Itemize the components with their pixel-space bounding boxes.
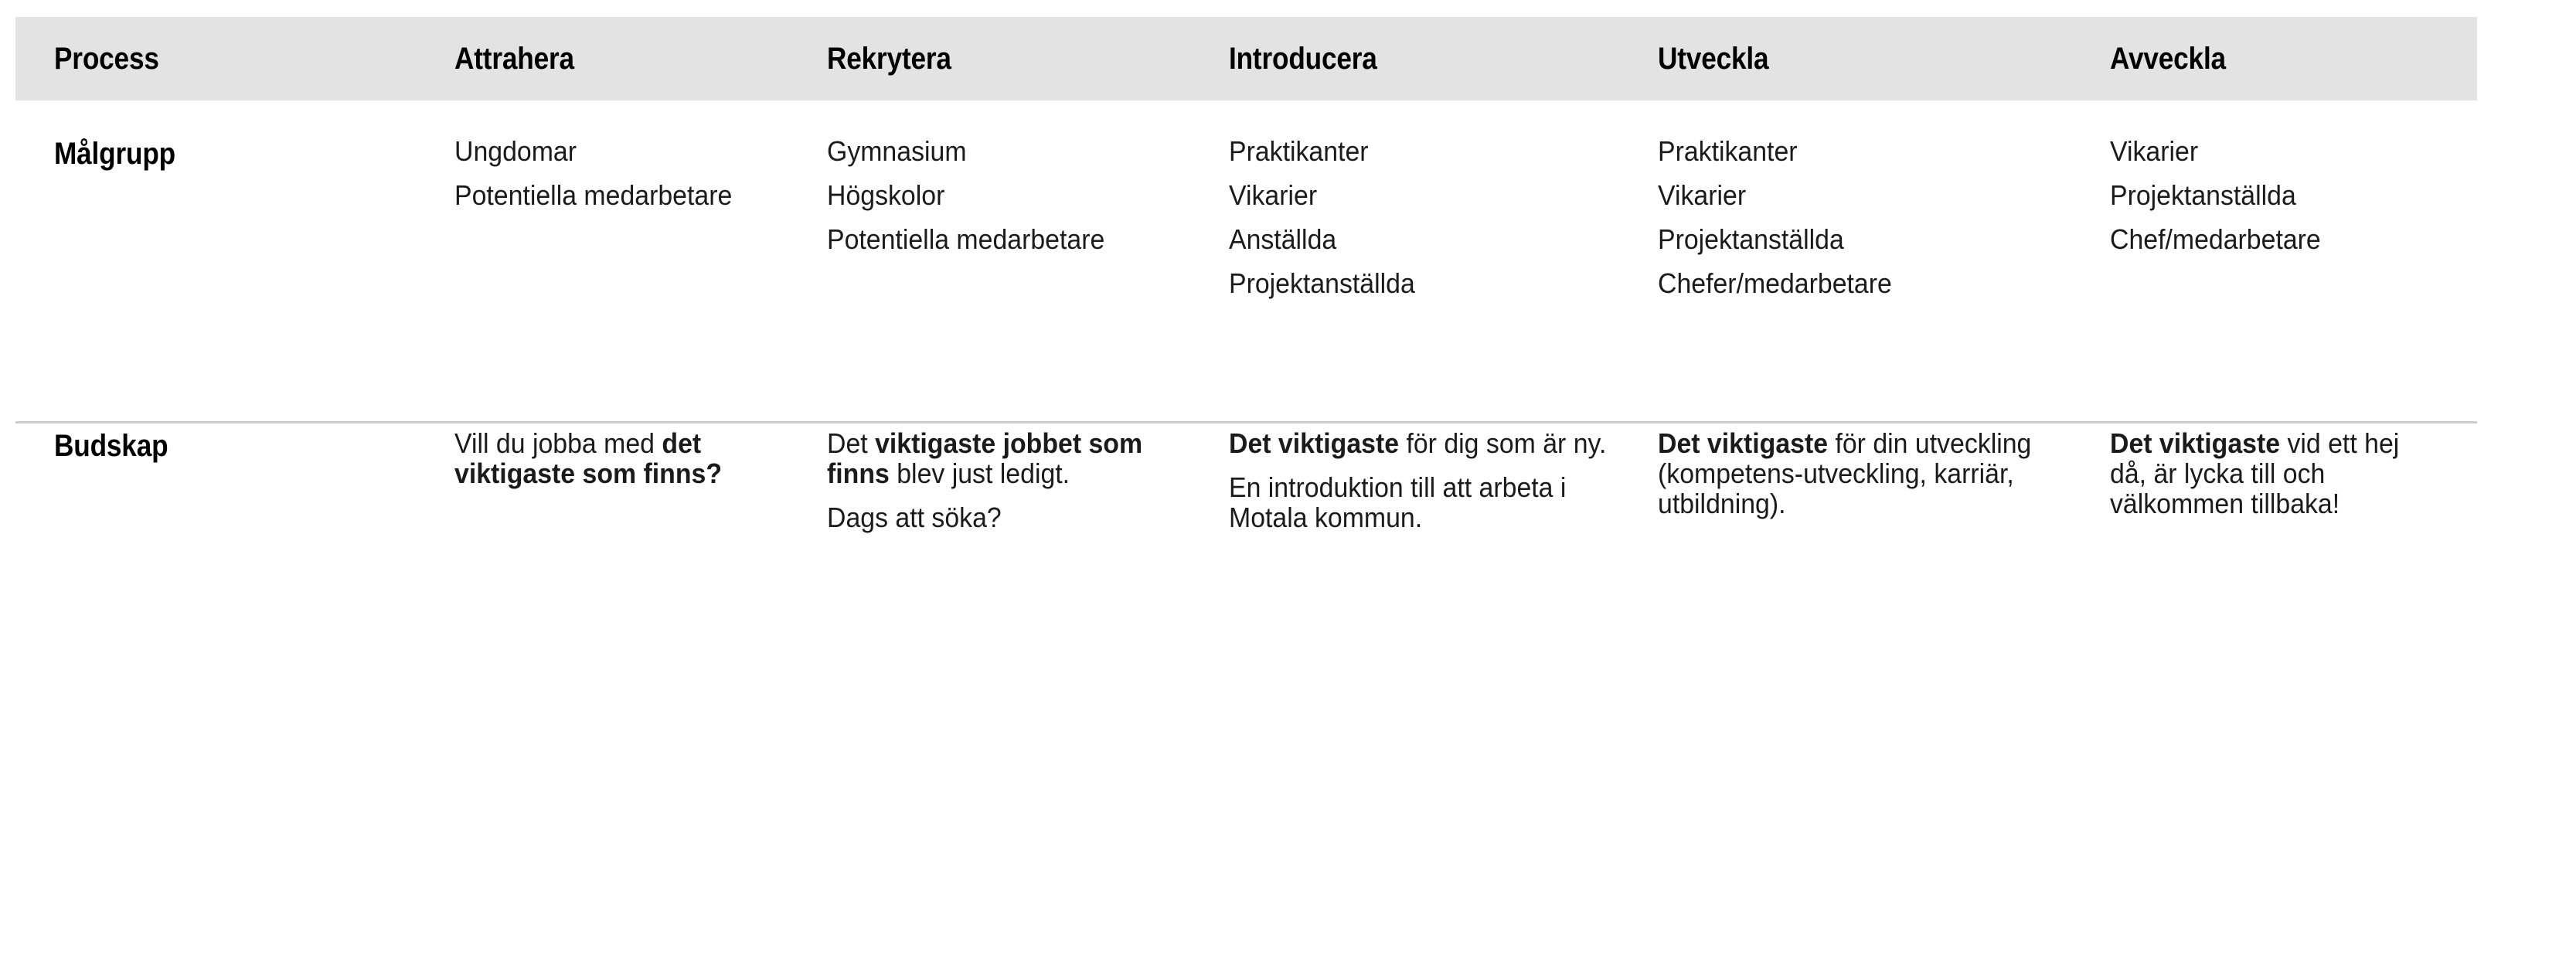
cell-paragraph: Chef/medarbetare: [2110, 224, 2438, 254]
plain-text: Chefer/medarbetare: [1658, 267, 1892, 299]
plain-text: Gymnasium: [827, 135, 967, 167]
row-label: Budskap: [54, 428, 390, 464]
table-cell: VikarierProjektanställdaChef/medarbetare: [2110, 136, 2477, 254]
process-table-sheet: Process Attrahera Rekrytera Introducera …: [0, 0, 2576, 966]
cell-paragraph: Det viktigaste jobbet som finns blev jus…: [827, 428, 1187, 488]
column-header-label: Rekrytera: [827, 42, 1164, 76]
plain-text: Vill du jobba med: [454, 427, 662, 459]
table-cell: Det viktigaste jobbet som finns blev jus…: [827, 428, 1229, 532]
plain-text: En introduktion till att arbeta i Motala…: [1229, 471, 1566, 533]
cell-content: Det viktigaste vid ett hej då, är lycka …: [2110, 428, 2438, 519]
column-header-label: Avveckla: [2110, 42, 2417, 76]
cell-paragraph: Vikarier: [1229, 180, 1615, 210]
plain-text: Projektanställda: [2110, 179, 2296, 211]
cell-paragraph: Det viktigaste för din utveckling (kompe…: [1658, 428, 2065, 519]
column-header-cell-avveckla: Avveckla: [2110, 42, 2477, 76]
plain-text: blev just ledigt.: [890, 457, 1070, 489]
cell-paragraph: Praktikanter: [1658, 136, 2065, 166]
table-cell: PraktikanterVikarierAnställdaProjektanst…: [1229, 136, 1658, 298]
table-row: Målgrupp UngdomarPotentiella medarbetare…: [15, 100, 2477, 393]
cell-paragraph: Projektanställda: [2110, 180, 2438, 210]
cell-content: GymnasiumHögskolorPotentiella medarbetar…: [827, 136, 1187, 254]
cell-paragraph: Ungdomar: [454, 136, 788, 166]
cell-paragraph: Vikarier: [2110, 136, 2438, 166]
table-cell: Det viktigaste för dig som är ny.En intr…: [1229, 428, 1658, 532]
plain-text: Projektanställda: [1658, 223, 1844, 255]
cell-content: UngdomarPotentiella medarbetare: [454, 136, 788, 210]
cell-paragraph: Gymnasium: [827, 136, 1187, 166]
table-cell: Det viktigaste för din utveckling (kompe…: [1658, 428, 2110, 519]
plain-text: Praktikanter: [1658, 135, 1798, 167]
plain-text: Det: [827, 427, 875, 459]
plain-text: Vikarier: [1658, 179, 1746, 211]
cell-paragraph: Projektanställda: [1658, 224, 2065, 254]
plain-text: Anställda: [1229, 223, 1336, 255]
process-table: Process Attrahera Rekrytera Introducera …: [15, 17, 2477, 640]
column-header-label: Process: [54, 42, 390, 76]
cell-paragraph: Potentiella medarbetare: [827, 224, 1187, 254]
cell-paragraph: Det viktigaste för dig som är ny.: [1229, 428, 1615, 458]
column-header-label: Introducera: [1229, 42, 1590, 76]
cell-paragraph: Potentiella medarbetare: [454, 180, 788, 210]
emphasis-text: Det viktigaste: [2110, 427, 2280, 459]
plain-text: Dags att söka?: [827, 502, 1002, 533]
table-cell: Vill du jobba med det viktigaste som fin…: [454, 428, 827, 488]
cell-paragraph: Projektanställda: [1229, 268, 1615, 298]
cell-content: Det viktigaste jobbet som finns blev jus…: [827, 428, 1187, 532]
emphasis-text: Det viktigaste: [1229, 427, 1399, 459]
cell-paragraph: Dags att söka?: [827, 502, 1187, 532]
cell-paragraph: Högskolor: [827, 180, 1187, 210]
plain-text: Praktikanter: [1229, 135, 1369, 167]
cell-content: Det viktigaste för din utveckling (kompe…: [1658, 428, 2065, 519]
row-label: Målgrupp: [54, 136, 390, 172]
table-cell: GymnasiumHögskolorPotentiella medarbetar…: [827, 136, 1229, 254]
plain-text: Potentiella medarbetare: [827, 223, 1104, 255]
table-cell: Det viktigaste vid ett hej då, är lycka …: [2110, 428, 2477, 519]
cell-paragraph: Vill du jobba med det viktigaste som fin…: [454, 428, 788, 488]
plain-text: Potentiella medarbetare: [454, 179, 732, 211]
cell-content: Vill du jobba med det viktigaste som fin…: [454, 428, 788, 488]
table-header-row: Process Attrahera Rekrytera Introducera …: [15, 17, 2477, 100]
column-header-cell-process: Process: [15, 42, 454, 76]
cell-content: VikarierProjektanställdaChef/medarbetare: [2110, 136, 2438, 254]
row-label-cell: Målgrupp: [15, 136, 454, 172]
cell-paragraph: Det viktigaste vid ett hej då, är lycka …: [2110, 428, 2438, 519]
cell-paragraph: En introduktion till att arbeta i Motala…: [1229, 472, 1615, 532]
plain-text: Vikarier: [2110, 135, 2198, 167]
cell-paragraph: Vikarier: [1658, 180, 2065, 210]
column-header-cell-rekrytera: Rekrytera: [827, 42, 1229, 76]
table-row: Budskap Vill du jobba med det viktigaste…: [15, 393, 2477, 640]
column-header-cell-utveckla: Utveckla: [1658, 42, 2110, 76]
table-cell: PraktikanterVikarierProjektanställdaChef…: [1658, 136, 2110, 298]
column-header-label: Attrahera: [454, 42, 766, 76]
column-header-cell-introducera: Introducera: [1229, 42, 1658, 76]
column-header-label: Utveckla: [1658, 42, 2040, 76]
cell-content: PraktikanterVikarierProjektanställdaChef…: [1658, 136, 2065, 298]
plain-text: Vikarier: [1229, 179, 1317, 211]
table-cell: UngdomarPotentiella medarbetare: [454, 136, 827, 210]
plain-text: Ungdomar: [454, 135, 577, 167]
cell-paragraph: Anställda: [1229, 224, 1615, 254]
row-label-cell: Budskap: [15, 428, 454, 464]
row-divider: [15, 421, 2477, 423]
plain-text: Chef/medarbetare: [2110, 223, 2321, 255]
plain-text: Projektanställda: [1229, 267, 1415, 299]
plain-text: för dig som är ny.: [1399, 427, 1606, 459]
cell-content: PraktikanterVikarierAnställdaProjektanst…: [1229, 136, 1615, 298]
column-header-cell-attrahera: Attrahera: [454, 42, 827, 76]
plain-text: Högskolor: [827, 179, 944, 211]
cell-paragraph: Chefer/medarbetare: [1658, 268, 2065, 298]
cell-content: Det viktigaste för dig som är ny.En intr…: [1229, 428, 1615, 532]
cell-paragraph: Praktikanter: [1229, 136, 1615, 166]
emphasis-text: Det viktigaste: [1658, 427, 1828, 459]
